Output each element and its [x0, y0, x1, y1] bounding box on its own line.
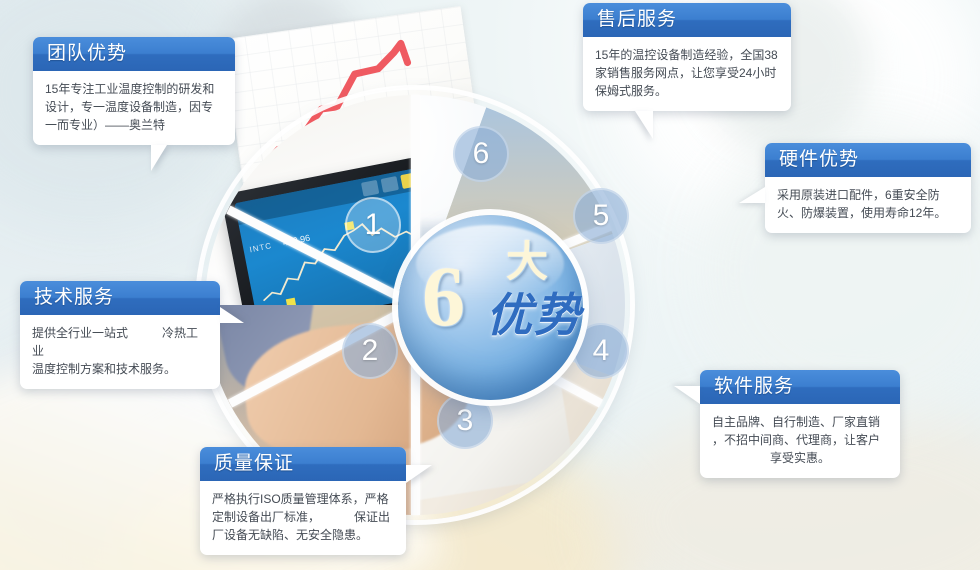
callout-title: 技术服务 [20, 281, 220, 315]
callout-body: 提供全行业一站式冷热工业 温度控制方案和技术服务。 [20, 315, 220, 389]
center-number: 6 [422, 253, 465, 339]
callout-body-text: 保证出 [354, 510, 390, 524]
callout-tail [220, 307, 244, 323]
callout-body-line: 温度控制方案和技术服务。 [32, 360, 208, 378]
callout-body-line: 定制设备出厂标准，保证出 [212, 508, 394, 526]
callout-body: 严格执行ISO质量管理体系，严格 定制设备出厂标准，保证出 厂设备无缺陷、无安全… [200, 481, 406, 555]
callout-tail [406, 465, 432, 483]
callout-title: 售后服务 [583, 3, 791, 37]
callout-body-line: 严格执行ISO质量管理体系，严格 [212, 490, 394, 508]
center-badge[interactable]: 6 大 优势 [398, 215, 583, 400]
center-unit: 大 [506, 241, 548, 283]
callout-tail [674, 386, 700, 404]
callout-body-line: 自主品牌、自行制造、厂家直销 [712, 413, 888, 431]
callout-title: 质量保证 [200, 447, 406, 481]
center-word: 优势 [486, 293, 582, 339]
callout-quality-assurance[interactable]: 质量保证 严格执行ISO质量管理体系，严格 定制设备出厂标准，保证出 厂设备无缺… [200, 447, 406, 555]
callout-body-line: 提供全行业一站式冷热工业 [32, 324, 208, 360]
callout-body-line: ，不招中间商、代理商，让客户 [712, 431, 888, 449]
callout-technical-service[interactable]: 技术服务 提供全行业一站式冷热工业 温度控制方案和技术服务。 [20, 281, 220, 389]
callout-hardware-advantage[interactable]: 硬件优势 采用原装进口配件，6重安全防火、防爆装置，使用寿命12年。 [765, 143, 971, 233]
callout-tail [635, 111, 653, 139]
callout-body-text: 提供全行业一站式 [32, 326, 128, 340]
callout-body: 15年专注工业温度控制的研发和设计，专一温度设备制造，因专一而专业）——奥兰特 [33, 71, 235, 145]
screen-tile [361, 180, 379, 197]
segment-number-6[interactable]: 6 [453, 126, 509, 182]
segment-number-1[interactable]: 1 [345, 197, 401, 253]
callout-team-advantage[interactable]: 团队优势 15年专注工业温度控制的研发和设计，专一温度设备制造，因专一而专业）—… [33, 37, 235, 145]
callout-body-text: 定制设备出厂标准， [212, 510, 320, 524]
callout-title: 团队优势 [33, 37, 235, 71]
callout-tail [151, 145, 167, 171]
screen-tile [381, 176, 399, 193]
segment-number-3[interactable]: 3 [437, 393, 493, 449]
callout-title: 软件服务 [700, 370, 900, 404]
callout-tail [739, 187, 765, 203]
callout-body-line: 享受实惠。 [712, 449, 888, 467]
callout-after-sales[interactable]: 售后服务 15年的温控设备制造经验，全国38家销售服务网点，让您享受24小时保姆… [583, 3, 791, 111]
callout-title: 硬件优势 [765, 143, 971, 177]
callout-software-service[interactable]: 软件服务 自主品牌、自行制造、厂家直销 ，不招中间商、代理商，让客户 享受实惠。 [700, 370, 900, 478]
callout-body-line: 厂设备无缺陷、无安全隐患。 [212, 526, 394, 544]
segment-number-2[interactable]: 2 [342, 323, 398, 379]
callout-body: 自主品牌、自行制造、厂家直销 ，不招中间商、代理商，让客户 享受实惠。 [700, 404, 900, 478]
infographic-canvas: INTC 440.96 [0, 0, 980, 570]
callout-body: 采用原装进口配件，6重安全防火、防爆装置，使用寿命12年。 [765, 177, 971, 233]
callout-body: 15年的温控设备制造经验，全国38家销售服务网点，让您享受24小时保姆式服务。 [583, 37, 791, 111]
center-badge-text: 6 大 优势 [398, 215, 583, 400]
